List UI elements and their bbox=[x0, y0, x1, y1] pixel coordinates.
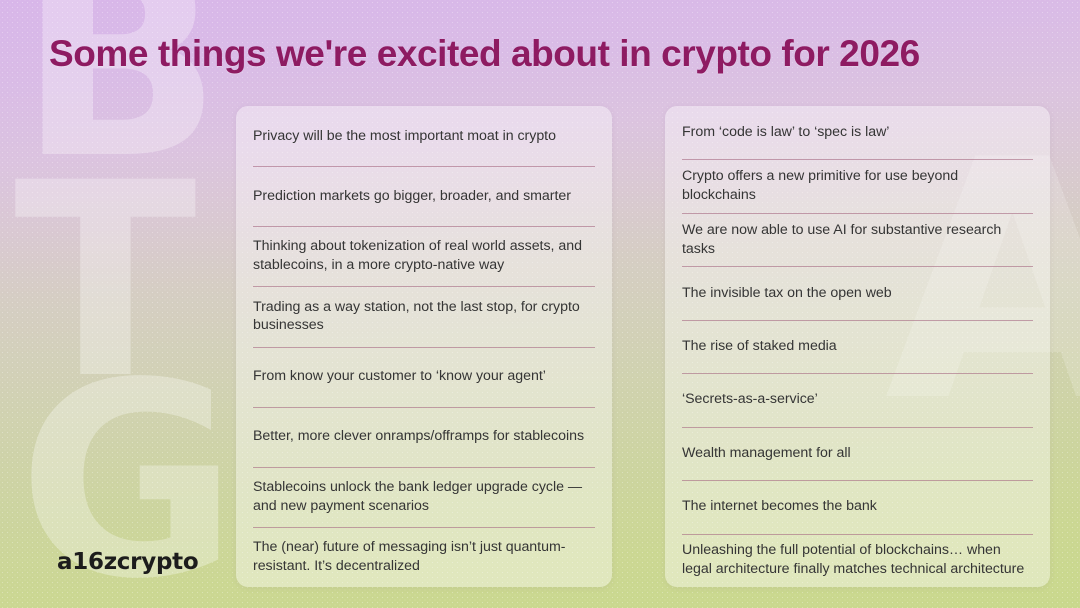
list-item-label: Privacy will be the most important moat … bbox=[253, 127, 556, 146]
list-item[interactable]: The invisible tax on the open web bbox=[679, 266, 1036, 319]
list-item[interactable]: From ‘code is law’ to ‘spec is law’ bbox=[679, 106, 1036, 159]
a16zcrypto-logo: a16zcrypto bbox=[57, 549, 198, 575]
list-item[interactable]: Better, more clever onramps/offramps for… bbox=[250, 407, 598, 467]
list-item[interactable]: The internet becomes the bank bbox=[679, 480, 1036, 533]
list-item-label: Better, more clever onramps/offramps for… bbox=[253, 427, 584, 446]
left-column-card: Privacy will be the most important moat … bbox=[236, 106, 612, 587]
slide-canvas: B T G A Some things we're excited about … bbox=[0, 0, 1080, 608]
list-item-label: From ‘code is law’ to ‘spec is law’ bbox=[682, 123, 889, 142]
list-item-label: The internet becomes the bank bbox=[682, 497, 877, 516]
list-item[interactable]: Crypto offers a new primitive for use be… bbox=[679, 159, 1036, 212]
topics-columns: Privacy will be the most important moat … bbox=[0, 0, 1080, 608]
list-item-label: Trading as a way station, not the last s… bbox=[253, 298, 595, 336]
list-item-label: From know your customer to ‘know your ag… bbox=[253, 367, 546, 386]
list-item-label: ‘Secrets-as-a-service’ bbox=[682, 390, 818, 409]
list-item[interactable]: Unleashing the full potential of blockch… bbox=[679, 534, 1036, 587]
list-item[interactable]: ‘Secrets-as-a-service’ bbox=[679, 373, 1036, 426]
list-item[interactable]: Privacy will be the most important moat … bbox=[250, 106, 598, 166]
list-item-label: Unleashing the full potential of blockch… bbox=[682, 541, 1033, 579]
list-item[interactable]: Thinking about tokenization of real worl… bbox=[250, 226, 598, 286]
right-column-card: From ‘code is law’ to ‘spec is law’Crypt… bbox=[665, 106, 1050, 587]
list-item-label: The (near) future of messaging isn’t jus… bbox=[253, 538, 595, 576]
list-item[interactable]: Prediction markets go bigger, broader, a… bbox=[250, 166, 598, 226]
list-item[interactable]: From know your customer to ‘know your ag… bbox=[250, 347, 598, 407]
list-item[interactable]: The rise of staked media bbox=[679, 320, 1036, 373]
list-item-label: Thinking about tokenization of real worl… bbox=[253, 237, 595, 275]
list-item[interactable]: Trading as a way station, not the last s… bbox=[250, 286, 598, 346]
list-item-label: The rise of staked media bbox=[682, 337, 837, 356]
list-item-label: Stablecoins unlock the bank ledger upgra… bbox=[253, 478, 595, 516]
list-item[interactable]: The (near) future of messaging isn’t jus… bbox=[250, 527, 598, 587]
list-item-label: Prediction markets go bigger, broader, a… bbox=[253, 187, 571, 206]
list-item[interactable]: Stablecoins unlock the bank ledger upgra… bbox=[250, 467, 598, 527]
list-item[interactable]: Wealth management for all bbox=[679, 427, 1036, 480]
list-item-label: We are now able to use AI for substantiv… bbox=[682, 221, 1033, 259]
list-item-label: Wealth management for all bbox=[682, 444, 851, 463]
list-item-label: The invisible tax on the open web bbox=[682, 284, 892, 303]
list-item-label: Crypto offers a new primitive for use be… bbox=[682, 167, 1033, 205]
list-item[interactable]: We are now able to use AI for substantiv… bbox=[679, 213, 1036, 266]
